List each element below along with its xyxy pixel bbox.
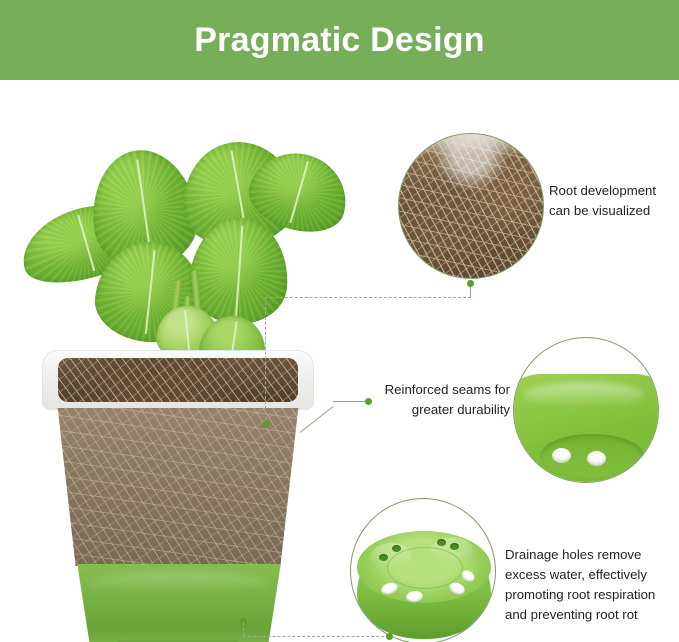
connector-root-horizontal — [265, 297, 471, 298]
header-band: Pragmatic Design — [0, 0, 679, 80]
pot-clear-body-with-roots — [50, 408, 306, 566]
pot-base-closeup-circle — [350, 498, 496, 642]
drainage-hole-small — [437, 539, 446, 546]
soil-root-closeup-circle — [398, 133, 544, 279]
drainage-hole-small — [379, 554, 388, 561]
connector-dot-drainage-circle — [386, 633, 393, 640]
connector-drainage-horizontal — [243, 636, 389, 637]
pot-corner-highlight — [524, 382, 644, 408]
callout-label-reinforced-seams: Reinforced seams for greater durability — [360, 380, 510, 420]
drainage-hole-small — [450, 543, 459, 550]
product-image — [14, 120, 344, 630]
pot-corner-closeup-circle — [513, 337, 659, 483]
soil-haze — [399, 134, 543, 156]
drainage-hole — [552, 448, 571, 463]
pot-green-highlight — [88, 572, 270, 594]
pot-soil-surface — [58, 358, 298, 402]
callout-label-root-development: Root development can be visualized — [549, 181, 679, 221]
connector-dot-pot-roots — [262, 421, 269, 428]
callout-label-drainage-holes: Drainage holes remove excess water, effe… — [505, 545, 679, 625]
connector-root-vertical — [265, 297, 266, 424]
drainage-hole-small — [392, 545, 401, 552]
product-infographic: Pragmatic Design — [0, 0, 679, 642]
connector-drainage-vertical — [243, 622, 244, 636]
page-title: Pragmatic Design — [194, 23, 484, 57]
connector-dot-root-circle — [467, 280, 474, 287]
drainage-hole — [587, 451, 606, 466]
